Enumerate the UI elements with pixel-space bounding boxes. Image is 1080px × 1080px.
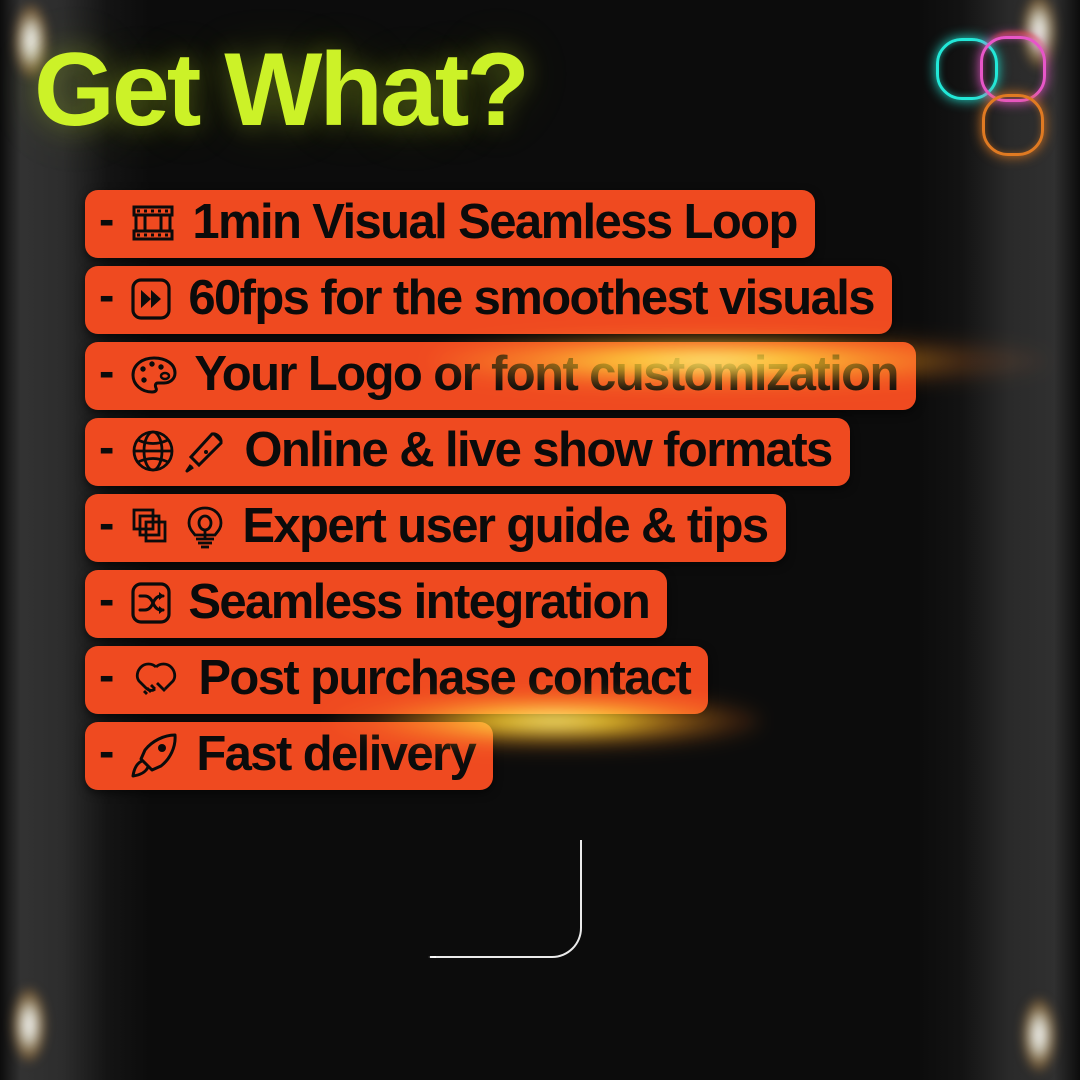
list-item-label: Your Logo or font customization bbox=[194, 350, 897, 400]
film-frames-icon bbox=[130, 203, 176, 243]
bottom-left-light-icon bbox=[12, 988, 46, 1062]
list-item-label: Seamless integration bbox=[188, 578, 649, 628]
feature-list: - 1min Visual Seamless Loop - 60fps for bbox=[85, 190, 916, 790]
list-item-label: Post purchase contact bbox=[198, 654, 690, 704]
list-item[interactable]: - Online & live show formats bbox=[85, 418, 850, 486]
right-edge-sheen bbox=[920, 0, 1080, 1080]
bullet-dash: - bbox=[99, 348, 114, 394]
globe-icon bbox=[130, 428, 176, 474]
list-item[interactable]: - Expert user guide & tips bbox=[85, 494, 786, 562]
list-item-label: Expert user guide & tips bbox=[242, 502, 767, 552]
logo-orange-ring-icon bbox=[982, 94, 1044, 156]
list-item[interactable]: - 1min Visual Seamless Loop bbox=[85, 190, 815, 258]
list-item-label: 1min Visual Seamless Loop bbox=[192, 198, 797, 248]
bullet-dash: - bbox=[99, 728, 114, 774]
bullet-dash: - bbox=[99, 500, 114, 546]
list-item[interactable]: - 60fps for the smoothest visuals bbox=[85, 266, 892, 334]
list-item[interactable]: - Your Logo or font customization bbox=[85, 342, 916, 410]
list-item-label: Online & live show formats bbox=[244, 426, 831, 476]
shuffle-icon bbox=[130, 581, 172, 625]
palette-icon bbox=[130, 354, 178, 396]
list-item[interactable]: - Seamless integration bbox=[85, 570, 667, 638]
page-title: Get What? bbox=[34, 38, 527, 142]
brand-logo bbox=[936, 30, 1058, 158]
white-rounded-corner-rule bbox=[430, 840, 582, 958]
bullet-dash: - bbox=[99, 272, 114, 318]
handshake-icon bbox=[130, 658, 182, 700]
bullet-dash: - bbox=[99, 424, 114, 470]
bullet-dash: - bbox=[99, 576, 114, 622]
logo-pink-ring-icon bbox=[980, 36, 1046, 102]
list-item-label: Fast delivery bbox=[196, 730, 475, 780]
fast-forward-icon bbox=[130, 277, 172, 321]
rocket-icon bbox=[130, 732, 180, 778]
list-item-label: 60fps for the smoothest visuals bbox=[188, 274, 874, 324]
cards-stack-icon bbox=[130, 505, 178, 549]
microphone-icon bbox=[182, 428, 228, 474]
lightbulb-icon bbox=[184, 504, 226, 550]
bullet-dash: - bbox=[99, 652, 114, 698]
list-item[interactable]: - Fast delivery bbox=[85, 722, 493, 790]
poster-canvas: Get What? - 1min Visual Seamless Loop - bbox=[0, 0, 1080, 1080]
bottom-right-light-icon bbox=[1022, 998, 1056, 1072]
bullet-dash: - bbox=[99, 196, 114, 242]
list-item[interactable]: - Post purchase contact bbox=[85, 646, 708, 714]
